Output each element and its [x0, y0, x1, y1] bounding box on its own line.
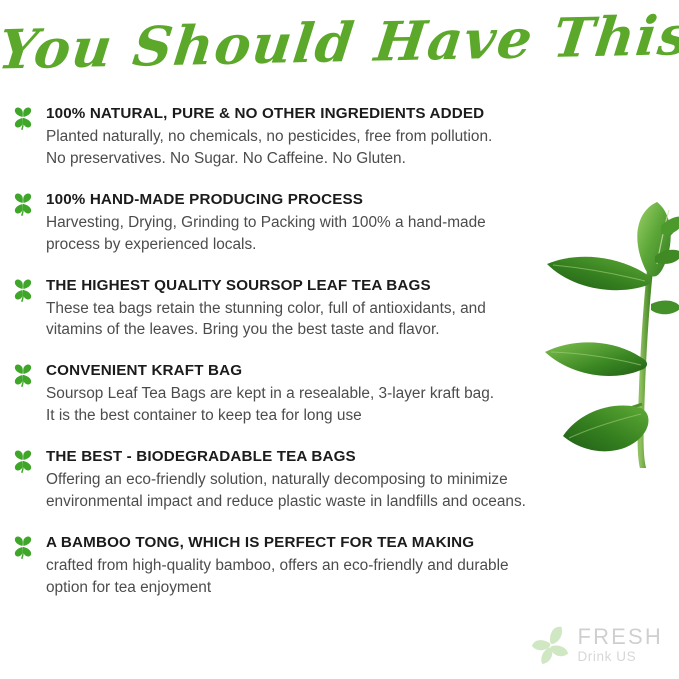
- four-leaf-clover-icon: [12, 363, 34, 387]
- feature-body-line: Harvesting, Drying, Grinding to Packing …: [46, 212, 646, 234]
- list-item: THE BEST - BIODEGRADABLE TEA BAGS Offeri…: [0, 447, 679, 513]
- feature-heading: THE BEST - BIODEGRADABLE TEA BAGS: [46, 447, 679, 466]
- feature-heading: CONVENIENT KRAFT BAG: [46, 361, 679, 380]
- four-leaf-clover-icon: [12, 449, 34, 473]
- promo-infographic: You Should Have This!: [0, 0, 679, 679]
- feature-body-line: environmental impact and reduce plastic …: [46, 491, 679, 513]
- list-item: 100% HAND-MADE PRODUCING PROCESS Harvest…: [0, 190, 679, 256]
- feature-body-line: crafted from high-quality bamboo, offers…: [46, 555, 679, 577]
- feature-body: Offering an eco-friendly solution, natur…: [46, 469, 679, 513]
- brand-logo-text: FRESH Drink US: [577, 626, 663, 664]
- feature-body-line: process by experienced locals.: [46, 234, 646, 256]
- page-title: You Should Have This!: [0, 14, 679, 71]
- list-item: 100% NATURAL, PURE & NO OTHER INGREDIENT…: [0, 104, 679, 170]
- brand-tagline: Drink US: [577, 650, 663, 664]
- feature-body-line: These tea bags retain the stunning color…: [46, 298, 646, 320]
- feature-body-line: vitamins of the leaves. Bring you the be…: [46, 319, 646, 341]
- feature-body: Soursop Leaf Tea Bags are kept in a rese…: [46, 383, 646, 427]
- feature-body: These tea bags retain the stunning color…: [46, 298, 646, 342]
- feature-body: Harvesting, Drying, Grinding to Packing …: [46, 212, 646, 256]
- four-leaf-clover-icon: [12, 535, 34, 559]
- four-leaf-clover-icon: [12, 278, 34, 302]
- four-leaf-clover-icon: [12, 106, 34, 130]
- list-item: THE HIGHEST QUALITY SOURSOP LEAF TEA BAG…: [0, 276, 679, 342]
- feature-body-line: It is the best container to keep tea for…: [46, 405, 646, 427]
- feature-list: 100% NATURAL, PURE & NO OTHER INGREDIENT…: [0, 104, 679, 619]
- leaf-sprig-icon: [529, 625, 571, 665]
- feature-body: crafted from high-quality bamboo, offers…: [46, 555, 679, 599]
- page-title-text: You Should Have This!: [0, 7, 679, 79]
- feature-body-line: Offering an eco-friendly solution, natur…: [46, 469, 679, 491]
- feature-body-line: Soursop Leaf Tea Bags are kept in a rese…: [46, 383, 646, 405]
- feature-heading: A BAMBOO TONG, WHICH IS PERFECT FOR TEA …: [46, 533, 679, 552]
- feature-body-line: No preservatives. No Sugar. No Caffeine.…: [46, 148, 646, 170]
- list-item: A BAMBOO TONG, WHICH IS PERFECT FOR TEA …: [0, 533, 679, 599]
- feature-heading: THE HIGHEST QUALITY SOURSOP LEAF TEA BAG…: [46, 276, 679, 295]
- four-leaf-clover-icon: [12, 192, 34, 216]
- feature-body-line: Planted naturally, no chemicals, no pest…: [46, 126, 646, 148]
- feature-heading: 100% NATURAL, PURE & NO OTHER INGREDIENT…: [46, 104, 679, 123]
- brand-logo: FRESH Drink US: [529, 625, 663, 665]
- feature-body: Planted naturally, no chemicals, no pest…: [46, 126, 646, 170]
- feature-heading: 100% HAND-MADE PRODUCING PROCESS: [46, 190, 679, 209]
- feature-body-line: option for tea enjoyment: [46, 577, 679, 599]
- brand-name: FRESH: [577, 626, 663, 648]
- list-item: CONVENIENT KRAFT BAG Soursop Leaf Tea Ba…: [0, 361, 679, 427]
